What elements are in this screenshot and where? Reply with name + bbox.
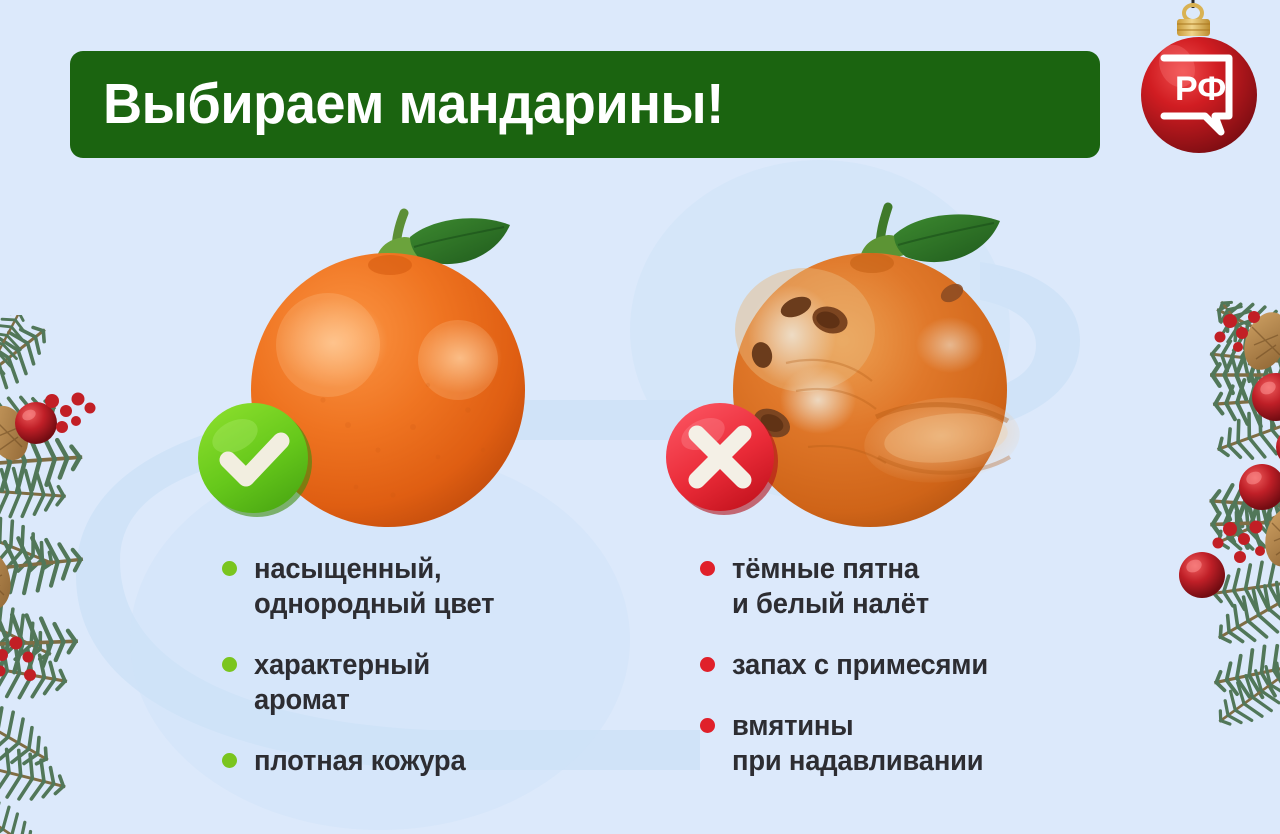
list-item-label: тёмные пятна и белый налёт bbox=[732, 552, 929, 622]
leaf-icon bbox=[894, 214, 1000, 262]
list-item: насыщенный, однородный цвет bbox=[222, 552, 652, 622]
list-item-label: запах с примесями bbox=[732, 648, 988, 683]
list-item: вмятины при надавливании bbox=[700, 709, 1120, 779]
pine-cone-icon bbox=[0, 400, 35, 613]
christmas-ball bbox=[15, 402, 57, 444]
bullet-red-icon bbox=[700, 718, 715, 733]
bullet-green-icon bbox=[222, 657, 237, 672]
bad-signs-list: тёмные пятна и белый налёт запах с приме… bbox=[700, 552, 1120, 779]
christmas-ball bbox=[1239, 464, 1280, 510]
title-banner: Выбираем мандарины! bbox=[70, 51, 1100, 158]
infographic-poster: Выбираем мандарины! bbox=[0, 0, 1280, 834]
good-signs-list: насыщенный, однородный цвет характерный … bbox=[222, 552, 652, 779]
explaining-rf-ornament-logo[interactable]: РФ bbox=[1137, 0, 1273, 170]
christmas-ball bbox=[1252, 373, 1280, 421]
list-item-label: плотная кожура bbox=[254, 744, 465, 779]
list-item: запах с примесями bbox=[700, 648, 1120, 683]
bullet-red-icon bbox=[700, 561, 715, 576]
list-item: тёмные пятна и белый налёт bbox=[700, 552, 1120, 622]
list-item-label: насыщенный, однородный цвет bbox=[254, 552, 494, 622]
bullet-red-icon bbox=[700, 657, 715, 672]
list-item-label: вмятины при надавливании bbox=[732, 709, 983, 779]
fir-branch-left-decoration bbox=[0, 315, 230, 834]
list-item: характерный аромат bbox=[222, 648, 652, 718]
berry-cluster bbox=[0, 393, 96, 682]
christmas-ball bbox=[1276, 427, 1280, 467]
bullet-green-icon bbox=[222, 753, 237, 768]
bullet-green-icon bbox=[222, 561, 237, 576]
list-item: плотная кожура bbox=[222, 744, 652, 779]
rf-logo-text: РФ bbox=[1175, 70, 1226, 108]
check-badge bbox=[195, 400, 315, 520]
list-item-label: характерный аромат bbox=[254, 648, 430, 718]
cross-badge bbox=[663, 400, 781, 518]
berry-cluster bbox=[1213, 311, 1266, 563]
christmas-ball bbox=[1179, 552, 1225, 598]
page-title: Выбираем мандарины! bbox=[103, 76, 724, 133]
leaf-icon bbox=[410, 218, 510, 264]
pine-cone-icon bbox=[1236, 306, 1280, 571]
